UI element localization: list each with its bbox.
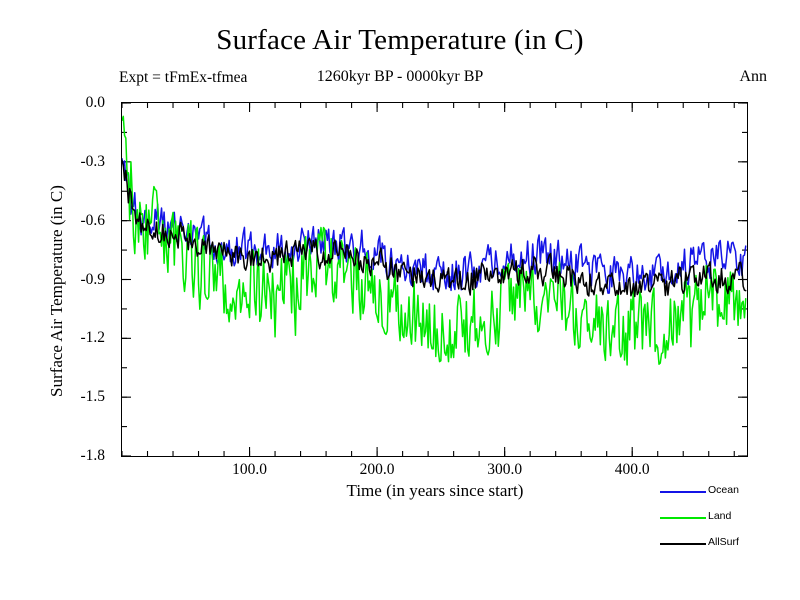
legend-label-land: Land <box>708 510 731 522</box>
legend-swatch-ocean <box>660 491 706 493</box>
x-tick-label: 100.0 <box>232 461 267 479</box>
season-label: Ann <box>739 68 767 86</box>
x-tick-label: 200.0 <box>360 461 395 479</box>
legend-label-ocean: Ocean <box>708 484 739 496</box>
x-tick-label: 400.0 <box>615 461 650 479</box>
plot-area <box>121 102 748 457</box>
legend-swatch-allsurf <box>660 543 706 545</box>
chart-title: Surface Air Temperature (in C) <box>0 24 800 57</box>
y-tick-label: -0.9 <box>0 271 105 289</box>
y-tick-label: 0.0 <box>0 94 105 112</box>
y-axis-tick-labels: 0.0-0.3-0.6-0.9-1.2-1.5-1.8 <box>0 0 113 600</box>
y-tick-label: -1.5 <box>0 388 105 406</box>
x-tick-label: 300.0 <box>487 461 522 479</box>
legend-label-allsurf: AllSurf <box>708 536 739 548</box>
y-tick-label: -1.2 <box>0 329 105 347</box>
y-tick-label: -0.3 <box>0 153 105 171</box>
y-tick-label: -1.8 <box>0 447 105 465</box>
chart-canvas: Surface Air Temperature (in C) 1260kyr B… <box>0 0 800 600</box>
y-tick-label: -0.6 <box>0 212 105 230</box>
series-lines <box>122 103 747 456</box>
x-axis-title: Time (in years since start) <box>121 481 749 501</box>
legend-swatch-land <box>660 517 706 519</box>
experiment-label: Expt = tFmEx-tfmea <box>119 69 247 87</box>
